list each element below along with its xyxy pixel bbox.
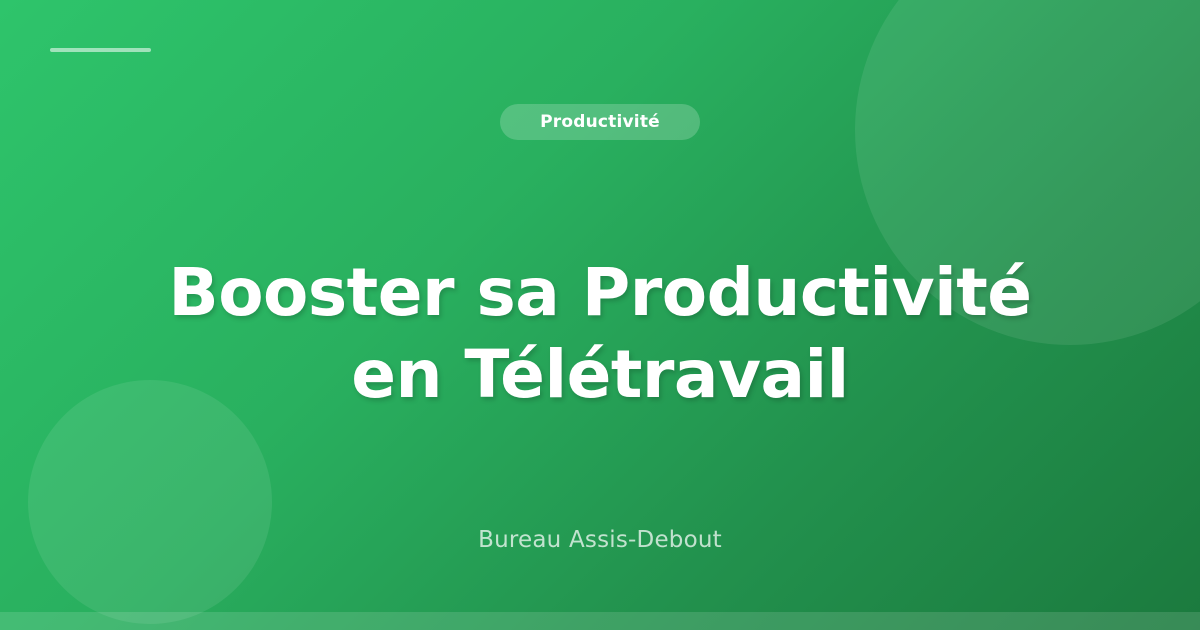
category-badge: Productivité [500,104,700,140]
page-title-line-1: Booster sa Productivité [168,254,1031,331]
page-title-line-2: en Télétravail [351,336,849,413]
social-share-card: Productivité Booster sa Productivité en … [0,0,1200,630]
page-subtitle: Bureau Assis-Debout [0,527,1200,553]
card-content: Productivité Booster sa Productivité en … [0,0,1200,630]
page-title: Booster sa Productivité en Télétravail [0,252,1200,416]
